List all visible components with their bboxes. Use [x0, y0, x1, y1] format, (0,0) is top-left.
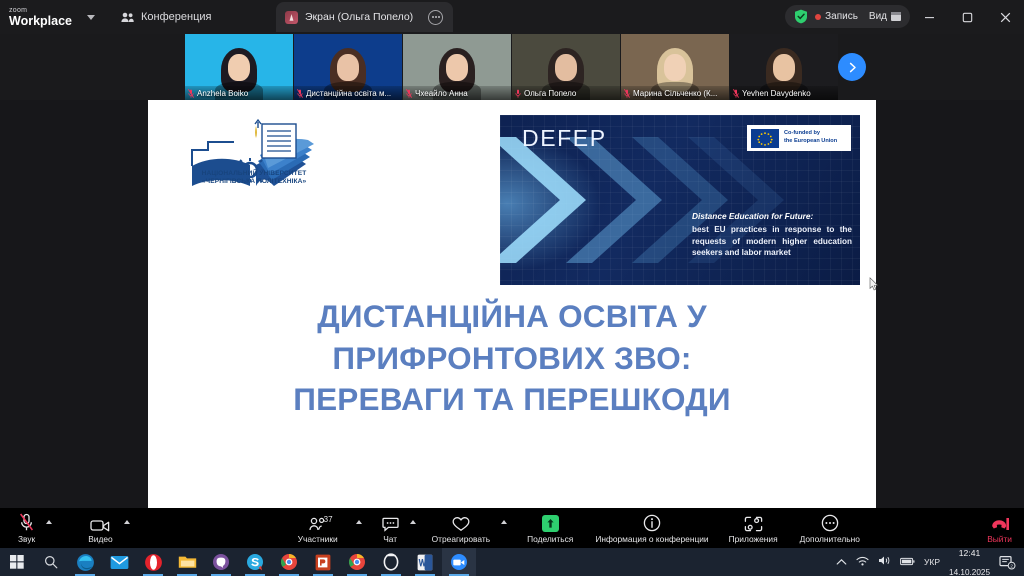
tab-screen-share[interactable]: Экран (Ольга Попело) [276, 2, 453, 32]
chevron-up-icon[interactable] [836, 553, 847, 571]
toolbar-item-reactions[interactable]: Отреагировать [432, 508, 490, 548]
participant-name-bar: Чхеайло Анна [403, 86, 511, 100]
slide-title-line3: ПЕРЕВАГИ ТА ПЕРЕШКОДИ [200, 379, 824, 421]
eu-funding-text: Co-funded by the European Union [784, 130, 837, 145]
shared-screen-stage: НАЦІОНАЛЬНИЙ УНІВЕРСИТЕТ «ЧЕРНІГІВСЬКА П… [0, 100, 1024, 508]
toolbar-audio-group[interactable]: Звук [18, 508, 52, 548]
toolbar-item-share[interactable]: Поделиться [527, 508, 573, 548]
participant-thumbnail[interactable]: Дистанційна освіта м... [294, 34, 402, 100]
participant-name: Дистанційна освіта м... [306, 89, 391, 98]
video-options-caret-icon[interactable] [124, 520, 130, 524]
participant-thumbnail[interactable]: Anzhela Boiko [185, 34, 293, 100]
toolbar-reactions-group[interactable]: Отреагировать [432, 508, 507, 548]
zoom-logo-line1: zoom [9, 7, 71, 14]
participant-name-bar: Дистанційна освіта м... [294, 86, 402, 100]
toolbar-label-chat: Чат [383, 534, 397, 544]
banner-tagline: Distance Education for Future: [692, 211, 852, 221]
close-button[interactable] [986, 0, 1024, 34]
toolbar-label-audio: Звук [18, 534, 35, 544]
toolbar-video-group[interactable]: Видео [88, 508, 129, 548]
maximize-icon [962, 12, 973, 23]
participant-name: Чхеайло Анна [415, 89, 468, 98]
notification-center-icon[interactable]: 2 [999, 555, 1016, 570]
zoom-logo-line2: Workplace [9, 15, 71, 28]
microphone-muted-icon [733, 89, 739, 98]
people-icon [121, 12, 134, 23]
taskbar-app-opera-gx[interactable] [374, 548, 408, 576]
recording-label: Запись [825, 11, 858, 22]
windows-taskbar[interactable]: УКР 12:41 14.10.2025 2 [0, 548, 1024, 576]
toolbar-label-share: Поделиться [527, 534, 573, 544]
taskbar-app-skype[interactable] [238, 548, 272, 576]
microphone-muted-icon [19, 512, 34, 532]
microphone-icon [515, 89, 521, 98]
apps-icon [744, 512, 763, 532]
toolbar-item-more[interactable]: Дополнительно [800, 508, 860, 548]
participant-name-bar: Ольга Попело [512, 86, 620, 100]
banner-description-block: Distance Education for Future: best EU p… [692, 211, 852, 259]
european-union-flag [751, 129, 779, 148]
eu-funding-line1: Co-funded by [784, 130, 820, 136]
taskbar-app-google-chrome[interactable] [340, 548, 374, 576]
taskbar-app-powerpoint[interactable] [306, 548, 340, 576]
search-icon[interactable] [34, 548, 68, 576]
clock-date: 14.10.2025 [949, 568, 990, 576]
participants-count: 37 [324, 515, 333, 524]
toolbar-label-leave: Выйти [987, 534, 1012, 544]
participant-name: Anzhela Boiko [197, 89, 248, 98]
zoom-logo: zoom Workplace [9, 7, 71, 28]
windows-start-icon[interactable] [0, 548, 34, 576]
eu-funding-badge: Co-funded by the European Union [747, 125, 851, 151]
maximize-button[interactable] [948, 0, 986, 34]
language-indicator[interactable]: УКР [924, 557, 940, 567]
share-screen-icon [542, 512, 559, 532]
toolbar-item-chat[interactable]: Чат [382, 508, 399, 548]
view-selector[interactable]: Вид [869, 11, 901, 22]
taskbar-app-opera[interactable] [136, 548, 170, 576]
toolbar-item-video[interactable]: Видео [88, 508, 112, 548]
taskbar-app-file-explorer[interactable] [170, 548, 204, 576]
banner-description: best EU practices in response to the req… [692, 224, 852, 259]
slide-title: ДИСТАНЦІЙНА ОСВІТА У ПРИФРОНТОВИХ ЗВО: П… [200, 296, 824, 421]
microphone-muted-icon [297, 89, 303, 98]
university-caption-line2: «ЧЕРНІГІВСЬКА ПОЛІТЕХНІКА» [168, 178, 340, 186]
close-icon [1000, 12, 1011, 23]
clock-time: 12:41 [959, 548, 981, 558]
recording-indicator[interactable]: Запись [815, 11, 858, 22]
eu-funding-line2: the European Union [784, 138, 837, 144]
layout-icon [891, 12, 901, 21]
participants-options-caret-icon[interactable] [356, 520, 362, 524]
chat-bubble-icon [382, 512, 399, 532]
shield-check-icon[interactable] [794, 9, 808, 24]
toolbar-item-apps[interactable]: Приложения [729, 508, 778, 548]
chat-options-caret-icon[interactable] [410, 520, 416, 524]
toolbar-item-participants[interactable]: 37 Участники [298, 508, 338, 548]
minimize-icon [924, 12, 935, 23]
university-caption-line1: НАЦІОНАЛЬНИЙ УНІВЕРСИТЕТ [168, 170, 340, 178]
minimize-button[interactable] [910, 0, 948, 34]
presentation-slide[interactable]: НАЦІОНАЛЬНИЙ УНІВЕРСИТЕТ «ЧЕРНІГІВСЬКА П… [148, 100, 876, 508]
participant-thumbnail[interactable]: Ольга Попело [512, 34, 620, 100]
chevron-right-icon [847, 62, 858, 73]
taskbar-app-zoom[interactable] [442, 548, 476, 576]
speaker-icon[interactable] [878, 553, 891, 571]
participant-name-bar: Anzhela Boiko [185, 86, 293, 100]
toolbar-label-apps: Приложения [729, 534, 778, 544]
meeting-toolbar[interactable]: Звук Видео [0, 508, 1024, 548]
toolbar-label-reactions: Отреагировать [432, 534, 490, 544]
taskbar-app-chrome-profile[interactable] [272, 548, 306, 576]
system-tray: УКР 12:41 14.10.2025 2 [836, 548, 1016, 576]
chernihiv-polytechnic-logo [174, 112, 334, 200]
tab-conference[interactable]: Конференция [121, 11, 211, 23]
taskbar-app-viber[interactable] [204, 548, 238, 576]
participant-name-bar: Yevhen Davydenko [730, 86, 838, 100]
toolbar-label-meeting-info: Информация о конференции [595, 534, 708, 544]
meeting-status-pill: Запись Вид [785, 5, 910, 28]
taskbar-clock[interactable]: 12:41 14.10.2025 [949, 543, 990, 576]
defep-banner: DEFEP [500, 115, 860, 285]
microphone-muted-icon [624, 89, 630, 98]
university-caption: НАЦІОНАЛЬНИЙ УНІВЕРСИТЕТ «ЧЕРНІГІВСЬКА П… [168, 170, 340, 186]
zoom-meeting-window: zoom Workplace Конференция Экран (Ольга … [0, 0, 1024, 576]
audio-options-caret-icon[interactable] [46, 520, 52, 524]
tab-conference-label: Конференция [141, 11, 211, 23]
participant-thumbnail[interactable]: Yevhen Davydenko [730, 34, 838, 100]
toolbar-chat-group[interactable]: Чат [382, 508, 416, 548]
taskbar-app-microsoft-edge[interactable] [68, 548, 102, 576]
slide-title-line1: ДИСТАНЦІЙНА ОСВІТА У [200, 296, 824, 338]
participant-name-bar: Марина Сільченко (К... [621, 86, 729, 100]
microphone-muted-icon [406, 89, 412, 98]
slide-title-line2: ПРИФРОНТОВИХ ЗВО: [200, 338, 824, 380]
toolbar-participants-group[interactable]: 37 Участники [298, 508, 362, 548]
title-bar: zoom Workplace Конференция Экран (Ольга … [0, 0, 1024, 34]
toolbar-label-participants: Участники [298, 534, 338, 544]
taskbar-app-microsoft-word[interactable] [408, 548, 442, 576]
participant-thumbnail[interactable]: Чхеайло Анна [403, 34, 511, 100]
participant-thumbnail[interactable]: Марина Сільченко (К... [621, 34, 729, 100]
chevron-down-icon[interactable] [87, 15, 95, 20]
participant-name: Ольга Попело [524, 89, 576, 98]
participants-filmstrip[interactable]: Anzhela BoikoДистанційна освіта м...Чхеа… [185, 34, 839, 100]
tab-screen-label: Экран (Ольга Попело) [305, 11, 413, 23]
taskbar-app-mail[interactable] [102, 548, 136, 576]
toolbar-label-more: Дополнительно [800, 534, 860, 544]
info-circle-icon [643, 512, 661, 532]
ellipsis-icon[interactable] [428, 10, 443, 25]
svg-text:2: 2 [1010, 563, 1013, 568]
more-circle-icon [821, 512, 839, 532]
toolbar-label-video: Видео [88, 534, 112, 544]
battery-icon[interactable] [900, 553, 915, 571]
toolbar-item-audio[interactable]: Звук [18, 508, 35, 548]
microphone-muted-icon [188, 89, 194, 98]
window-controls [910, 0, 1024, 34]
reactions-options-caret-icon[interactable] [501, 520, 507, 524]
toolbar-item-leave[interactable]: Выйти [987, 508, 1012, 548]
participant-name: Yevhen Davydenko [742, 89, 811, 98]
toolbar-item-meeting-info[interactable]: Информация о конференции [595, 508, 708, 548]
leave-meeting-icon [990, 512, 1010, 532]
mouse-pointer-icon [869, 277, 879, 291]
wifi-icon[interactable] [856, 553, 869, 571]
view-label: Вид [869, 11, 887, 22]
heart-icon [452, 512, 470, 532]
project-name: DEFEP [522, 125, 607, 152]
participant-name: Марина Сільченко (К... [633, 89, 717, 98]
camera-icon [90, 512, 110, 532]
record-dot-icon [815, 14, 821, 20]
filmstrip-next-button[interactable] [838, 53, 866, 81]
screen-share-avatar-icon [285, 11, 298, 24]
